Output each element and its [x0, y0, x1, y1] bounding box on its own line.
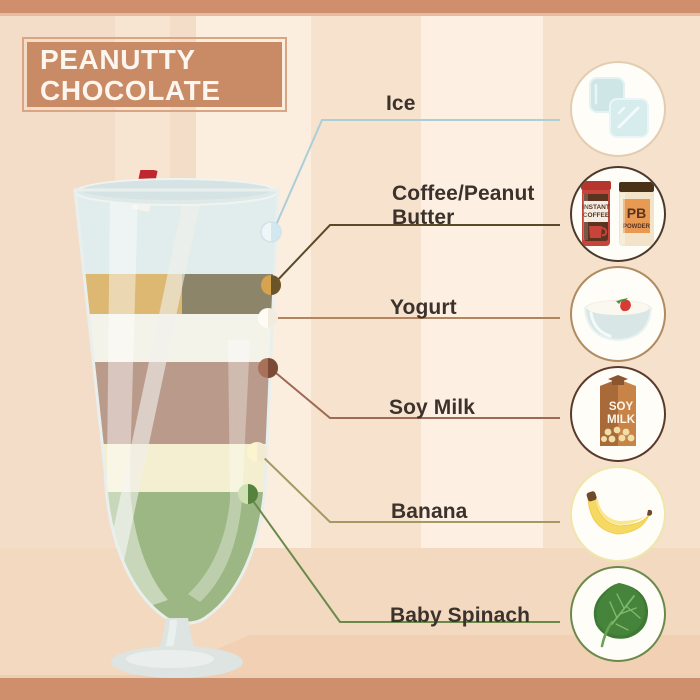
bubble-baby-spinach[interactable] [570, 566, 666, 662]
bubble-ice[interactable] [570, 61, 666, 157]
bubble-coffee-peanut-butter[interactable]: INSTANT COFFEE PB POWDER [570, 166, 666, 262]
connector-dot-baby-spinach[interactable] [238, 484, 258, 504]
svg-text:SOY: SOY [609, 401, 634, 413]
bubble-soy-milk[interactable]: SOY MILK [570, 366, 666, 462]
label-yogurt: Yogurt [390, 296, 457, 320]
peanut-butter-powder-jar-icon: PB POWDER [619, 182, 654, 246]
spinach-leaf-icon [572, 568, 664, 660]
instant-coffee-jar-icon: INSTANT COFFEE [581, 181, 611, 246]
connector-dot-yogurt[interactable] [258, 308, 278, 328]
connector-dot-coffee-peanut-butter[interactable] [261, 275, 281, 295]
label-coffee-peanut-butter: Coffee/Peanut Butter [392, 182, 535, 230]
label-ice: Ice [386, 92, 416, 116]
svg-text:MILK: MILK [607, 414, 636, 426]
connector-dot-banana[interactable] [247, 442, 267, 462]
svg-text:POWDER: POWDER [623, 224, 651, 230]
bubble-yogurt[interactable] [570, 266, 666, 362]
soy-milk-carton-icon: SOY MILK [572, 368, 664, 460]
svg-text:PB: PB [627, 205, 646, 221]
ice-cubes-icon [572, 63, 664, 155]
banana-icon [572, 468, 664, 560]
bubble-banana[interactable] [570, 466, 666, 562]
connector-dot-ice[interactable] [261, 222, 281, 242]
label-baby-spinach: Baby Spinach [390, 604, 530, 628]
yogurt-bowl-icon [572, 268, 664, 360]
label-banana: Banana [391, 500, 467, 524]
coffee-jar-and-pb-powder-icon: INSTANT COFFEE PB POWDER [572, 168, 664, 260]
infographic-poster: PEANUTTY CHOCOLATE [0, 0, 700, 700]
label-soy-milk: Soy Milk [389, 396, 475, 420]
connector-dot-soy-milk[interactable] [258, 358, 278, 378]
